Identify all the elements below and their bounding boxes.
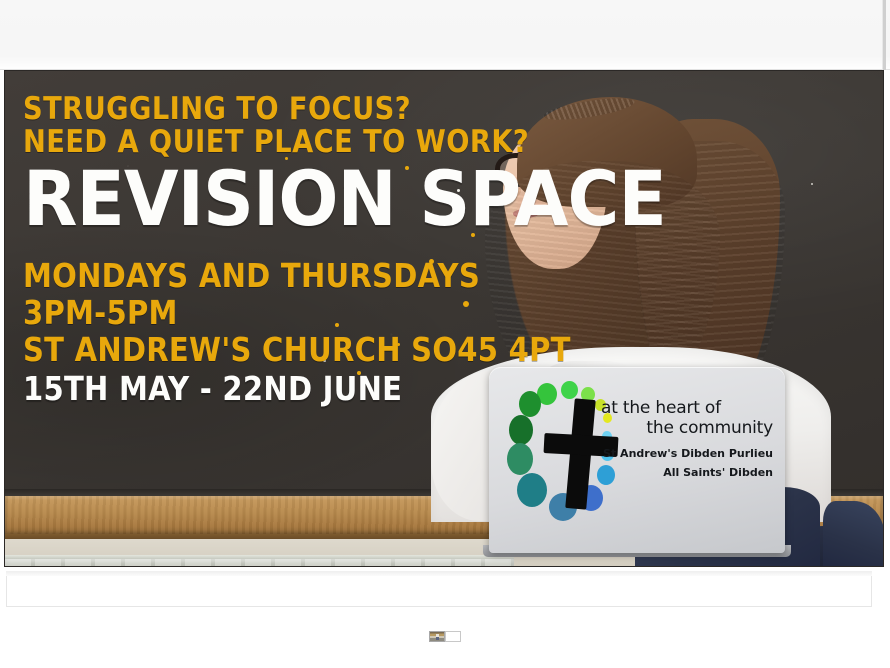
jeans-right-leg	[823, 501, 884, 567]
poster-detail-time: 3PM-5PM	[23, 295, 481, 332]
thumb-preview-image	[430, 632, 444, 641]
church-logo: at the heart of the community St Andrew'…	[505, 381, 771, 533]
ring-dot	[509, 415, 533, 445]
logo-parish-line2: All Saints' Dibden	[601, 465, 773, 482]
poster-detail-days: MONDAYS AND THURSDAYS	[23, 258, 481, 295]
logo-tagline-line1: at the heart of	[601, 399, 773, 419]
poster-detail-location: ST ANDREW'S CHURCH SO45 4PT	[23, 332, 481, 369]
ring-dot	[507, 443, 533, 475]
carousel-thumbnails	[0, 631, 890, 642]
ring-dot	[561, 381, 578, 399]
vertical-scrollbar[interactable]	[882, 0, 886, 70]
poster-date-range: 15TH MAY - 22ND JUNE	[23, 371, 481, 407]
carousel-thumb-1[interactable]	[429, 631, 445, 642]
poster-image[interactable]: at the heart of the community St Andrew'…	[4, 70, 884, 567]
carousel-thumb-2[interactable]	[445, 631, 461, 642]
logo-parish-line1: St Andrew's Dibden Purlieu	[601, 446, 773, 463]
logo-tagline-line2: the community	[601, 419, 773, 439]
logo-text-block: at the heart of the community St Andrew'…	[601, 399, 773, 481]
page-top-band	[0, 0, 890, 70]
caption-card	[6, 576, 872, 607]
poster-title: REVISION SPACE	[23, 163, 507, 236]
page-root: at the heart of the community St Andrew'…	[0, 0, 890, 668]
poster-details: MONDAYS AND THURSDAYS 3PM-5PM ST ANDREW'…	[23, 258, 543, 407]
poster-copy: STRUGGLING TO FOCUS? NEED A QUIET PLACE …	[23, 93, 543, 407]
poster-question-1: STRUGGLING TO FOCUS?	[23, 93, 481, 126]
